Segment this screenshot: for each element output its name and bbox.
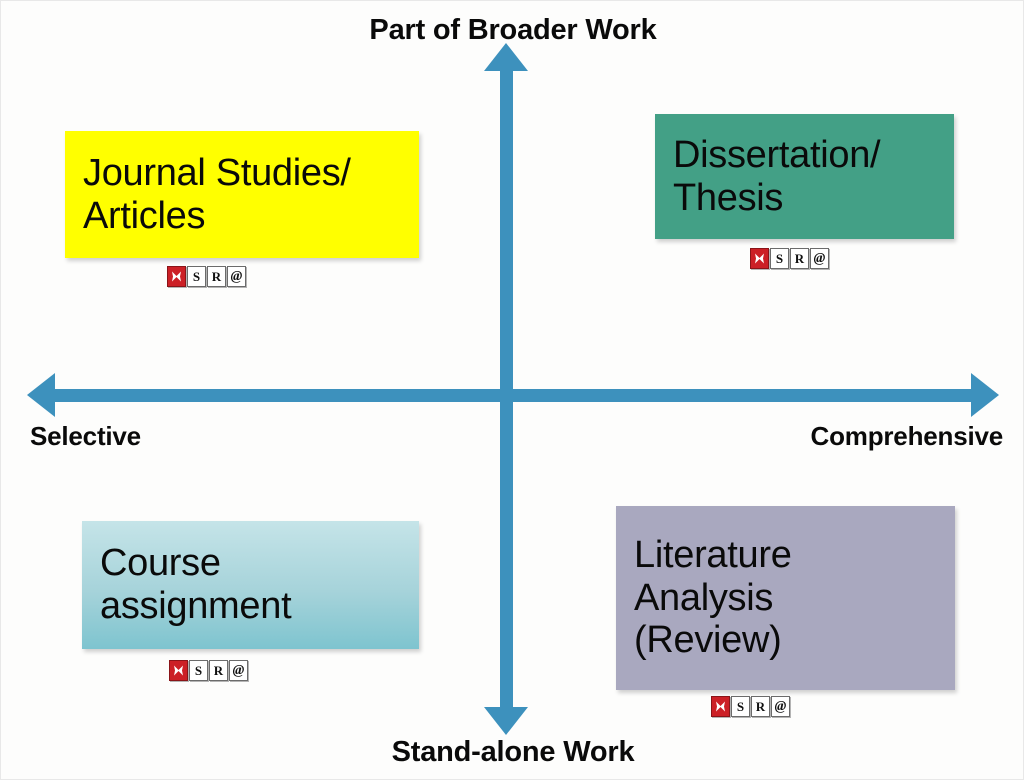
- broken-image-s-icon: S: [187, 266, 206, 287]
- broken-image-at-icon: @: [227, 266, 246, 287]
- broken-image-s-icon: S: [731, 696, 750, 717]
- quadrant-box-dissertation[interactable]: Dissertation/ Thesis: [655, 114, 954, 239]
- broken-image-x-icon: [169, 660, 188, 681]
- broken-image-placeholder-dissertation: S R @: [750, 248, 829, 269]
- broken-image-placeholder-course: S R @: [169, 660, 248, 681]
- broken-image-s-icon: S: [770, 248, 789, 269]
- axis-label-right: Comprehensive: [811, 421, 1003, 452]
- broken-image-at-icon: @: [810, 248, 829, 269]
- axis-arrowhead-left-icon: [27, 373, 55, 417]
- quadrant-box-course[interactable]: Course assignment: [82, 521, 419, 649]
- broken-image-s-icon: S: [189, 660, 208, 681]
- vertical-axis-line: [500, 69, 513, 709]
- axis-arrowhead-down-icon: [484, 707, 528, 735]
- broken-image-at-icon: @: [229, 660, 248, 681]
- axis-arrowhead-up-icon: [484, 43, 528, 71]
- broken-image-x-icon: [167, 266, 186, 287]
- quadrant-box-journal[interactable]: Journal Studies/ Articles: [65, 131, 419, 258]
- broken-image-r-icon: R: [209, 660, 228, 681]
- broken-image-x-icon: [750, 248, 769, 269]
- broken-image-r-icon: R: [790, 248, 809, 269]
- broken-image-placeholder-journal: S R @: [167, 266, 246, 287]
- broken-image-placeholder-literature: S R @: [711, 696, 790, 717]
- broken-image-r-icon: R: [207, 266, 226, 287]
- axis-label-left: Selective: [30, 421, 141, 452]
- quadrant-label-dissertation: Dissertation/ Thesis: [655, 134, 954, 220]
- quadrant-box-literature[interactable]: Literature Analysis (Review): [616, 506, 955, 690]
- broken-image-at-icon: @: [771, 696, 790, 717]
- horizontal-axis-line: [53, 389, 973, 402]
- quadrant-diagram-canvas: Part of Broader Work Stand-alone Work Se…: [0, 0, 1024, 780]
- quadrant-label-literature: Literature Analysis (Review): [616, 534, 955, 663]
- axis-label-bottom: Stand-alone Work: [1, 736, 1024, 769]
- broken-image-x-icon: [711, 696, 730, 717]
- broken-image-r-icon: R: [751, 696, 770, 717]
- quadrant-label-journal: Journal Studies/ Articles: [65, 152, 419, 238]
- axis-label-top: Part of Broader Work: [1, 14, 1024, 47]
- axis-arrowhead-right-icon: [971, 373, 999, 417]
- quadrant-label-course: Course assignment: [82, 542, 419, 628]
